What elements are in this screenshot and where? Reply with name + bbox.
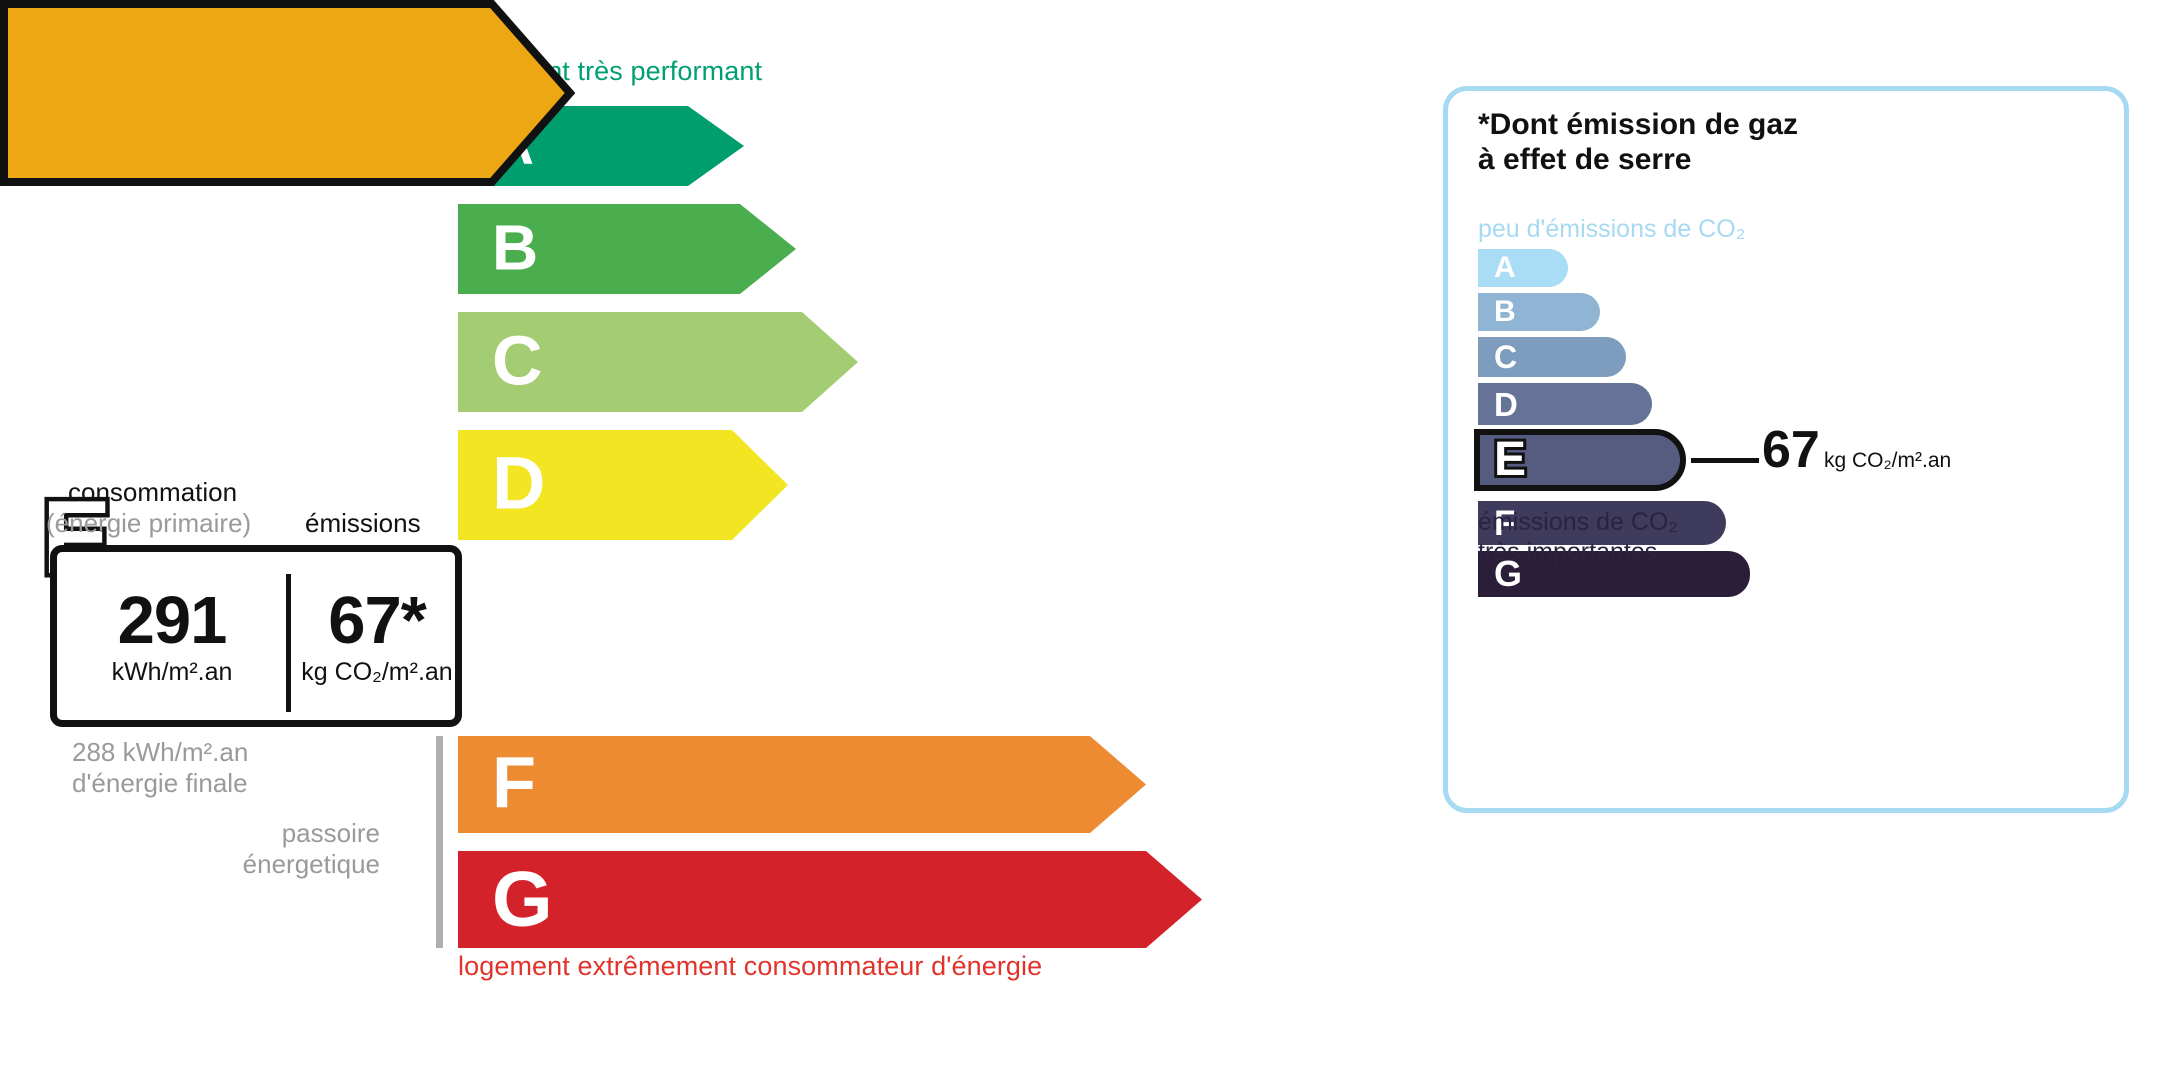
co2-bar-e-letter: E [1494,436,1526,484]
passoire-label-line2: énergetique [160,849,380,880]
energy-bar-d-tip [732,430,788,540]
co2-caption-top: peu d'émissions de CO₂ [1478,215,1745,244]
energy-caption-bottom: logement extrêmement consommateur d'éner… [458,951,1042,982]
label-emissions: émissions [305,508,421,539]
co2-panel-title-line2: à effet de serre [1478,142,1798,177]
primary-energy-value: 291 [118,587,227,654]
co2-caption-bottom: émissions de CO₂ très importantes [1478,507,1678,567]
passoire-label-line1: passoire [180,818,380,849]
co2-bar-d-letter: D [1494,388,1518,421]
energy-bar-d-letter: D [492,447,545,521]
passoire-divider [436,736,443,948]
energy-bar-d: D [458,430,732,540]
label-consommation: consommation [68,477,237,508]
emission-value: 67* [328,587,426,654]
energy-bar-c-tip [802,312,858,412]
energy-bar-g-letter: G [492,859,553,937]
co2-callout-unit: kg CO₂/m².an [1824,449,1951,473]
energy-bar-f-letter: F [492,747,536,819]
co2-bar-b-letter: B [1494,297,1516,327]
energy-bar-e-selected: E [0,0,580,186]
emission-unit: kg CO₂/m².an [301,660,452,685]
energy-bar-a-tip [688,106,744,186]
energy-bar-b-tip [740,204,796,294]
co2-callout-leader-line [1691,458,1759,463]
co2-caption-bottom-line1: émissions de CO₂ [1478,507,1678,537]
value-box: 291 kWh/m².an 67* kg CO₂/m².an [50,545,462,727]
co2-bar-d: D [1478,383,1652,425]
energy-bar-b: B [458,204,740,294]
value-box-divider [286,574,291,712]
co2-panel-title: *Dont émission de gaz à effet de serre [1478,107,1798,178]
energy-bar-g: G [458,851,1146,948]
co2-bar-e-selected: E [1474,429,1686,491]
co2-bar-a-letter: A [1494,253,1516,283]
energy-bar-f: F [458,736,1090,833]
energy-bar-b-letter: B [492,216,538,280]
energy-performance-chart: logement très performant A B C D E F [0,0,1380,1079]
final-energy-line1: 288 kWh/m².an [72,737,248,768]
label-energie-primaire: (énergie primaire) [46,508,251,539]
co2-bar-b: B [1478,293,1600,331]
primary-energy-value-cell: 291 kWh/m².an [61,552,283,720]
emission-value-cell: 67* kg CO₂/m².an [293,552,461,720]
primary-energy-unit: kWh/m².an [112,660,233,685]
co2-callout-value: 67 [1762,424,1820,476]
energy-bar-g-body [458,851,1146,948]
energy-bar-c: C [458,312,802,412]
co2-bar-c-letter: C [1494,341,1517,373]
energy-bar-c-letter: C [492,326,543,396]
energy-bar-f-body [458,736,1090,833]
final-energy-line2: d'énergie finale [72,768,248,799]
energy-bar-e-shape [0,0,580,186]
co2-caption-bottom-line2: très importantes [1478,537,1678,567]
co2-panel-title-line1: *Dont émission de gaz [1478,107,1798,142]
co2-emissions-panel: *Dont émission de gaz à effet de serre p… [1443,86,2129,813]
co2-bar-a: A [1478,249,1568,287]
energy-bar-f-tip [1090,736,1146,833]
co2-bar-c: C [1478,337,1626,377]
energy-bar-g-tip [1146,851,1202,948]
